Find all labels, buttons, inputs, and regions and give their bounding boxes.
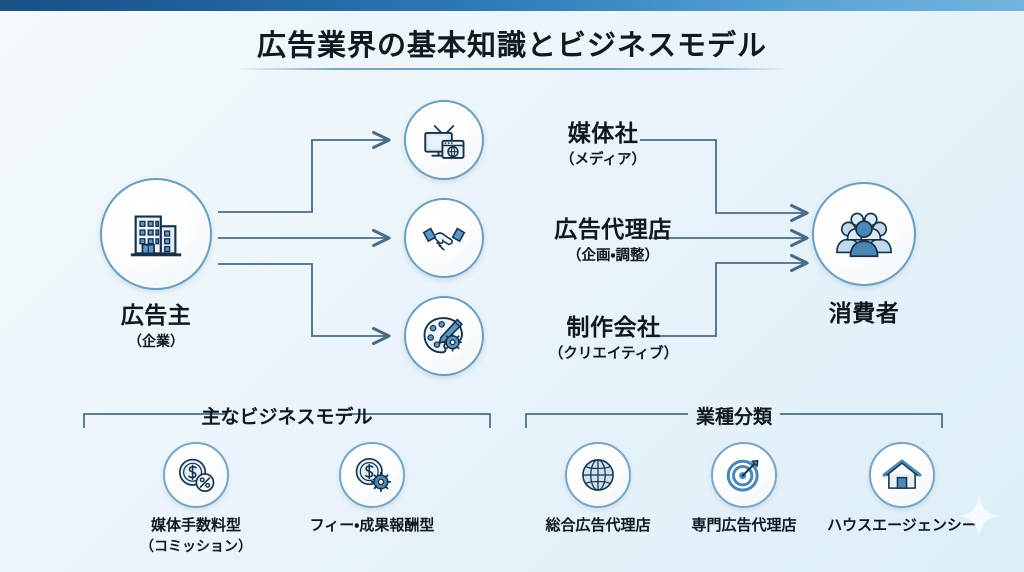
production-label: 制作会社 （クリエイティブ） xyxy=(506,308,721,363)
node-production[interactable]: 制作会社 （クリエイティブ） xyxy=(404,296,484,376)
consumer-name: 消費者 xyxy=(754,294,974,328)
commission-label: 媒体手数料型 xyxy=(136,517,256,536)
node-agency[interactable]: 広告代理店 （企画・調整） xyxy=(404,198,484,278)
palette-gear-icon xyxy=(419,311,469,361)
production-name: 制作会社 xyxy=(506,308,721,342)
sparkle-icon xyxy=(956,493,1002,539)
handshake-icon xyxy=(419,213,469,263)
media-name: 媒体社 xyxy=(508,114,698,148)
chip-commission[interactable]: 媒体手数料型 （コミッション） xyxy=(136,442,256,556)
full-service-agency-label: 総合広告代理店 xyxy=(530,517,666,536)
media-label: 媒体社 （メディア） xyxy=(508,114,698,169)
advertiser-sub: （企業） xyxy=(46,331,266,351)
fee-performance-label: フィー・成果報酬型 xyxy=(300,517,444,536)
globe-icon xyxy=(577,454,619,496)
production-circle xyxy=(404,296,484,376)
media-sub: （メディア） xyxy=(508,148,698,169)
node-consumer[interactable]: 消費者 xyxy=(812,182,916,286)
advertiser-label: 広告主 （企業） xyxy=(46,296,266,351)
commission-circle xyxy=(163,442,229,508)
panel-title-industry-categories: 業種分類 xyxy=(684,402,784,429)
office-building-icon xyxy=(125,203,187,265)
full-service-agency-circle xyxy=(565,442,631,508)
agency-circle xyxy=(404,198,484,278)
node-media[interactable]: 媒体社 （メディア） xyxy=(404,100,484,180)
fee-performance-circle xyxy=(339,442,405,508)
house-icon xyxy=(881,454,923,496)
advertiser-name: 広告主 xyxy=(46,296,266,330)
house-agency-circle xyxy=(869,442,935,508)
consumer-circle xyxy=(812,182,916,286)
panel-title-business-models: 主なビジネスモデル xyxy=(189,402,384,429)
coin-percent-icon xyxy=(174,453,218,497)
specialist-agency-circle xyxy=(711,442,777,508)
specialist-agency-label: 専門広告代理店 xyxy=(676,517,812,536)
panel-business-models: 主なビジネスモデル 媒体手数料型 （コミッション） xyxy=(78,406,496,554)
panel-industry-categories: 業種分類 総合広告代理店 xyxy=(520,406,948,554)
commission-sublabel: （コミッション） xyxy=(136,536,256,556)
agency-name: 広告代理店 xyxy=(508,210,718,244)
sparkle-decoration xyxy=(956,493,1002,544)
consumer-label: 消費者 xyxy=(754,294,974,328)
title-underline xyxy=(236,68,788,70)
chip-full-service-agency[interactable]: 総合広告代理店 xyxy=(530,442,666,536)
chip-fee-performance[interactable]: フィー・成果報酬型 xyxy=(300,442,444,536)
coin-gear-icon xyxy=(350,453,394,497)
production-sub: （クリエイティブ） xyxy=(506,342,721,363)
media-circle xyxy=(404,100,484,180)
target-dart-icon xyxy=(723,454,765,496)
advertiser-circle xyxy=(100,178,212,290)
slide-canvas: 広告業界の基本知識とビジネスモデル xyxy=(0,0,1024,572)
node-advertiser[interactable]: 広告主 （企業） xyxy=(100,178,212,290)
agency-label: 広告代理店 （企画・調整） xyxy=(508,210,718,265)
agency-sub: （企画・調整） xyxy=(508,244,718,265)
top-accent-bar xyxy=(0,0,1024,11)
tv-browser-icon xyxy=(419,115,469,165)
people-group-icon xyxy=(833,203,895,265)
chip-specialist-agency[interactable]: 専門広告代理店 xyxy=(676,442,812,536)
page-title: 広告業界の基本知識とビジネスモデル xyxy=(0,22,1024,64)
